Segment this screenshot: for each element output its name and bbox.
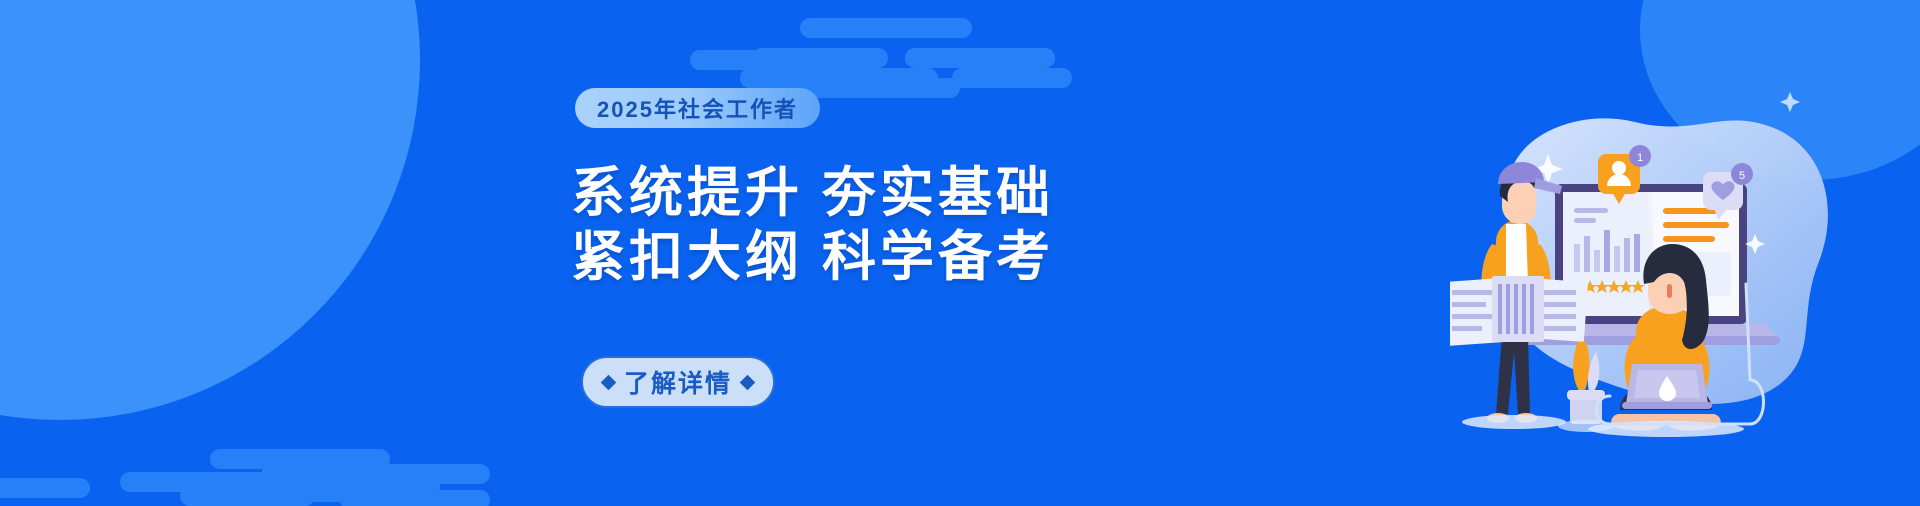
person-laptop	[1622, 364, 1712, 409]
follower-count: 1	[1637, 152, 1643, 164]
diamond-icon-right	[740, 374, 756, 390]
banner-content: 2025年社会工作者 系统提升 夯实基础 紧扣大纲 科学备考 了解详情	[565, 0, 1325, 506]
course-tag-badge: 2025年社会工作者	[575, 88, 820, 128]
background-circle-top-left	[0, 0, 420, 420]
learn-more-button[interactable]: 了解详情	[581, 356, 775, 408]
like-count: 5	[1739, 170, 1745, 182]
headline-line-2: 紧扣大纲 科学备考	[571, 212, 1311, 291]
online-learning-illustration: 1 5	[1450, 84, 1880, 484]
course-tag-label: 2025年社会工作者	[597, 92, 798, 124]
diamond-icon-left	[601, 374, 617, 390]
learn-more-label: 了解详情	[624, 364, 732, 400]
promo-banner: 2025年社会工作者 系统提升 夯实基础 紧扣大纲 科学备考 了解详情	[0, 0, 1920, 506]
document-sheets	[1450, 276, 1588, 346]
